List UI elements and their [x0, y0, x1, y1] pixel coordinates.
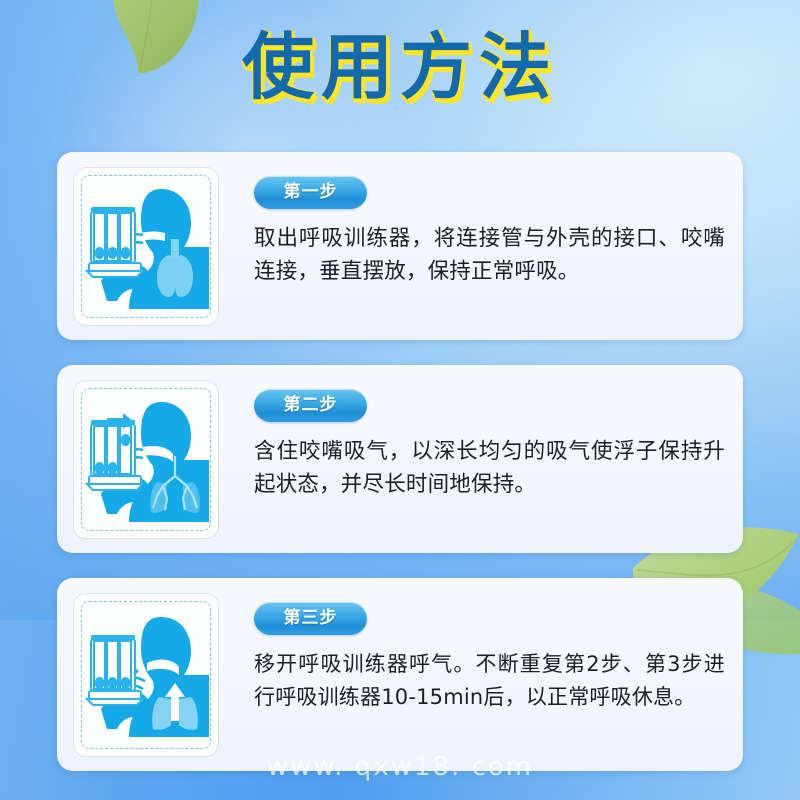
step-3-badge: 第三步 — [254, 602, 367, 635]
person-inhaling-icon — [83, 390, 209, 530]
step-2-badge: 第二步 — [254, 389, 367, 422]
step-2-illustration — [74, 381, 218, 538]
step-1-illustration — [74, 168, 218, 325]
step-1-text: 取出呼吸训练器，将连接管与外壳的接口、咬嘴连接，垂直摆放，保持正常呼吸。 — [254, 222, 725, 288]
step-card-1[interactable]: 第一步 取出呼吸训练器，将连接管与外壳的接口、咬嘴连接，垂直摆放，保持正常呼吸。 — [57, 152, 743, 340]
page-title: 使用方法 — [242, 24, 558, 110]
person-holding-spirometer-icon — [83, 177, 209, 317]
step-3-body: 第三步 移开呼吸训练器呼气。不断重复第2步、第3步进行呼吸训练器10-15min… — [218, 593, 725, 714]
step-2-body: 第二步 含住咬嘴吸气，以深长均匀的吸气使浮子保持升起状态，并尽长时间地保持。 — [218, 380, 725, 501]
step-1-badge: 第一步 — [254, 176, 367, 209]
step-3-text: 移开呼吸训练器呼气。不断重复第2步、第3步进行呼吸训练器10-15min后，以正… — [254, 648, 725, 714]
step-2-text: 含住咬嘴吸气，以深长均匀的吸气使浮子保持升起状态，并尽长时间地保持。 — [254, 435, 725, 501]
page-title-wrap: 使用方法 — [0, 24, 800, 124]
steps-list: 第一步 取出呼吸训练器，将连接管与外壳的接口、咬嘴连接，垂直摆放，保持正常呼吸。 — [57, 152, 743, 771]
person-exhaling-icon — [83, 605, 209, 745]
step-card-3[interactable]: 第三步 移开呼吸训练器呼气。不断重复第2步、第3步进行呼吸训练器10-15min… — [57, 578, 743, 771]
poster-stage: 使用方法 — [0, 0, 800, 800]
step-1-body: 第一步 取出呼吸训练器，将连接管与外壳的接口、咬嘴连接，垂直摆放，保持正常呼吸。 — [218, 167, 725, 288]
step-3-illustration — [74, 594, 218, 756]
step-card-2[interactable]: 第二步 含住咬嘴吸气，以深长均匀的吸气使浮子保持升起状态，并尽长时间地保持。 — [57, 365, 743, 553]
